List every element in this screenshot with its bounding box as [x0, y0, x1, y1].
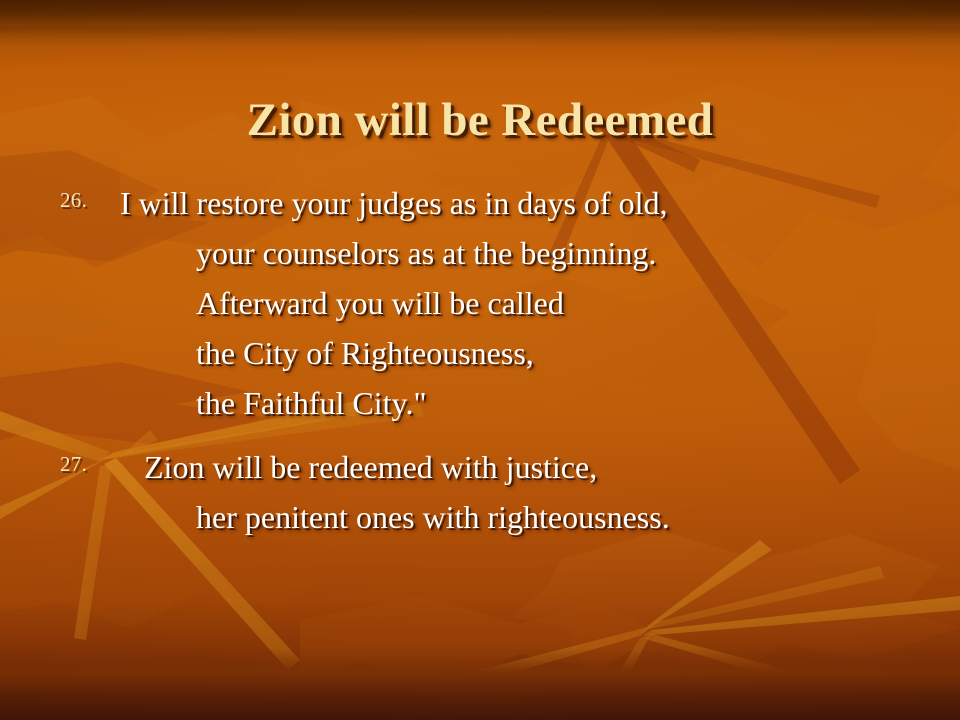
verse-number-26: 26. — [60, 188, 87, 213]
verse-line: Zion will be redeemed with justice, — [0, 442, 960, 492]
verse-line: the Faithful City." — [0, 378, 960, 428]
presentation-slide: Zion will be Redeemed 26. I will restore… — [0, 0, 960, 720]
verse-text-27: Zion will be redeemed with justice, her … — [0, 442, 960, 542]
verse-block-27: 27. Zion will be redeemed with justice, … — [0, 442, 960, 542]
verse-line: her penitent ones with righteousness. — [0, 492, 960, 542]
verse-line: your counselors as at the beginning. — [0, 228, 960, 278]
slide-body: 26. I will restore your judges as in day… — [0, 178, 960, 550]
verse-line: the City of Righteousness, — [0, 328, 960, 378]
verse-text-26: I will restore your judges as in days of… — [0, 178, 960, 428]
verse-number-27: 27. — [60, 452, 87, 477]
slide-title: Zion will be Redeemed — [0, 93, 960, 147]
verse-line: Afterward you will be called — [0, 278, 960, 328]
verse-block-26: 26. I will restore your judges as in day… — [0, 178, 960, 428]
verse-line: I will restore your judges as in days of… — [0, 178, 960, 228]
